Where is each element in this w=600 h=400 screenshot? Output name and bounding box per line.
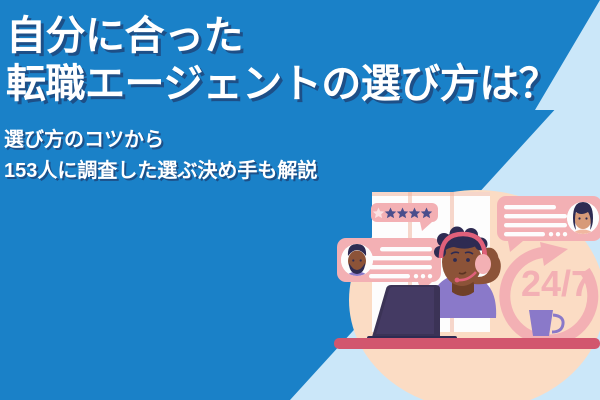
headset-mic-tip [455,278,460,283]
mug-body [529,310,553,336]
article-hero-banner: 24/7 [0,0,600,400]
headset-earcup [475,254,491,274]
badge-24-7-label: 24/7 [521,263,591,304]
character-eye-left [453,258,457,262]
character-eye-right [466,258,470,262]
desk-surface [334,338,600,349]
illustration-artwork: 24/7 [0,0,600,400]
